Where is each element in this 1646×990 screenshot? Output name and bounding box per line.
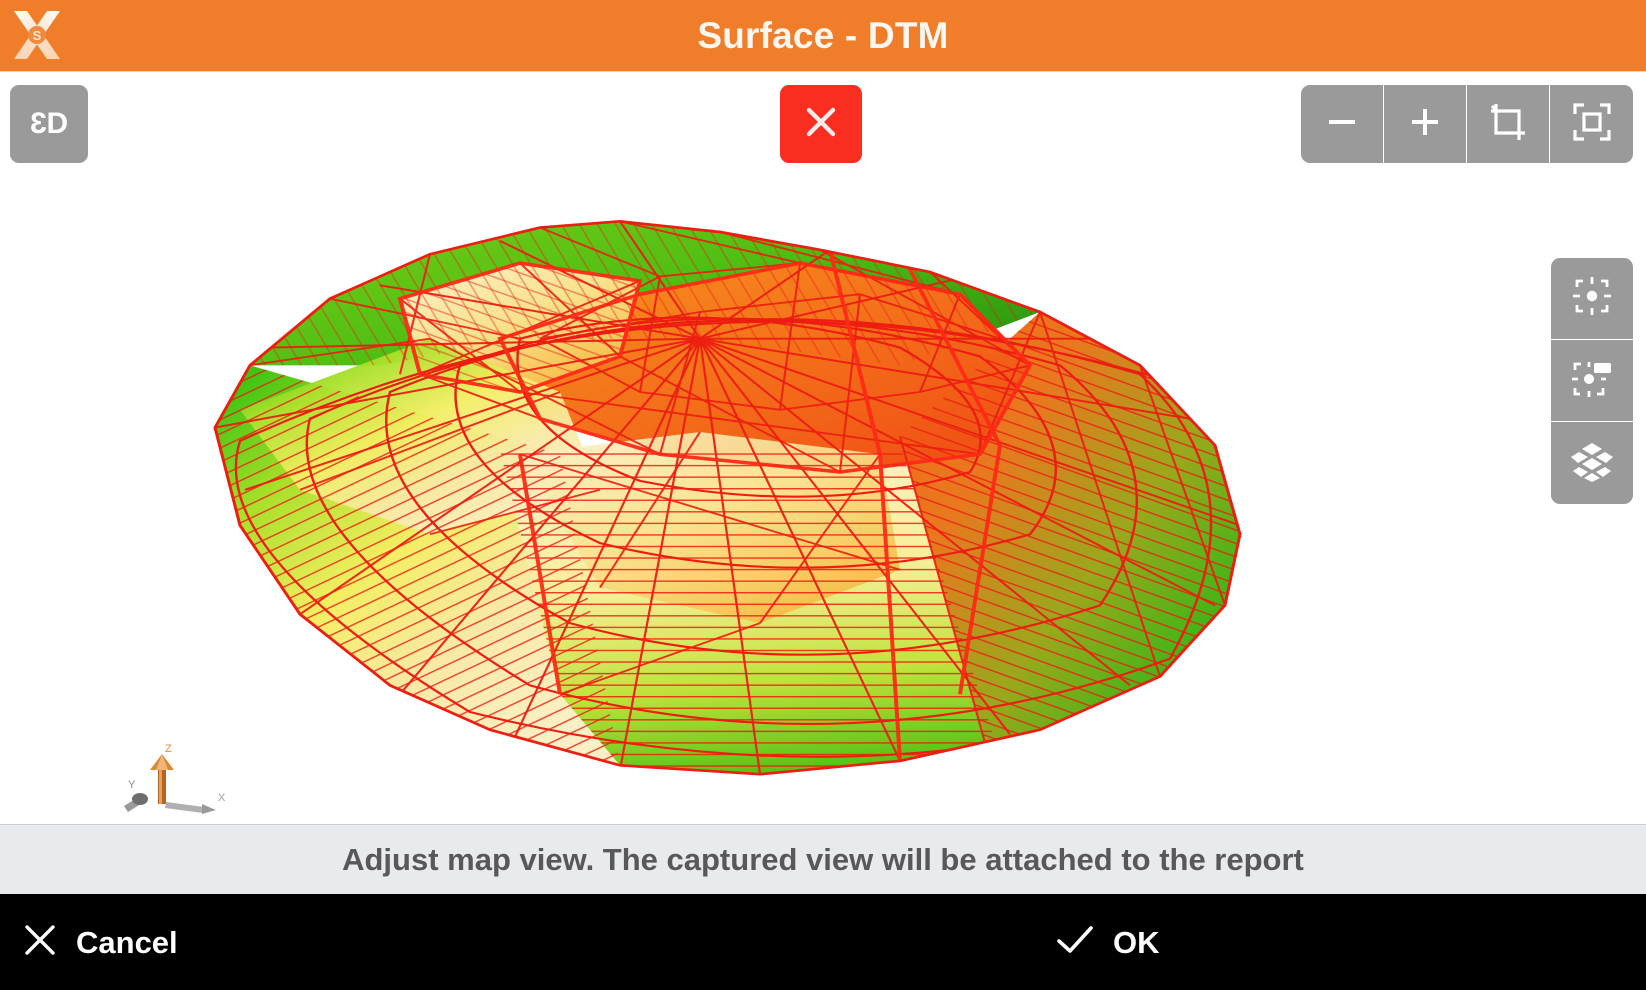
close-icon bbox=[804, 105, 838, 144]
plus-icon bbox=[1406, 103, 1444, 146]
surface-dtm-screen: S Surface - DTM bbox=[0, 0, 1646, 990]
check-icon bbox=[1055, 922, 1095, 963]
dtm-surface-mesh[interactable] bbox=[0, 72, 1646, 824]
crosshair-label-icon bbox=[1569, 355, 1615, 406]
fit-screen-icon bbox=[1572, 102, 1612, 147]
view-mode-3d-label: 3D bbox=[29, 109, 69, 139]
center-target-button[interactable] bbox=[1551, 258, 1633, 340]
status-message: Adjust map view. The captured view will … bbox=[342, 844, 1304, 875]
action-bar: Cancel OK bbox=[0, 894, 1646, 990]
axis-orientation-gizmo: Z Y X bbox=[118, 744, 238, 814]
xsite-logo-icon: S bbox=[8, 6, 66, 64]
minus-icon bbox=[1323, 103, 1361, 146]
view-mode-3d-toggle[interactable]: 3D bbox=[10, 85, 88, 163]
zoom-out-button[interactable] bbox=[1301, 85, 1384, 163]
close-view-button[interactable] bbox=[780, 85, 862, 163]
crosshair-target-icon bbox=[1570, 274, 1614, 323]
target-label-button[interactable] bbox=[1551, 340, 1633, 422]
surface-display-button[interactable] bbox=[1551, 422, 1633, 504]
view-tools-toolbar bbox=[1551, 258, 1633, 504]
title-bar: S Surface - DTM bbox=[0, 0, 1646, 72]
cancel-button[interactable]: Cancel bbox=[22, 894, 178, 990]
mesh-surface-icon bbox=[1568, 437, 1616, 490]
zoom-toolbar bbox=[1301, 85, 1633, 163]
axis-z-label: Z bbox=[165, 744, 172, 755]
axis-y-label: Y bbox=[128, 779, 136, 791]
axis-x-label: X bbox=[218, 792, 226, 804]
zoom-in-button[interactable] bbox=[1384, 85, 1467, 163]
status-bar: Adjust map view. The captured view will … bbox=[0, 824, 1646, 894]
cancel-button-label: Cancel bbox=[76, 927, 178, 958]
map-viewport[interactable]: 3D bbox=[0, 72, 1646, 824]
ok-button[interactable]: OK bbox=[1055, 894, 1160, 990]
crop-icon bbox=[1488, 102, 1528, 147]
crop-view-button[interactable] bbox=[1467, 85, 1550, 163]
close-icon bbox=[22, 922, 58, 963]
ok-button-label: OK bbox=[1113, 927, 1160, 958]
svg-text:S: S bbox=[33, 28, 42, 43]
page-title: Surface - DTM bbox=[697, 17, 948, 54]
fit-to-screen-button[interactable] bbox=[1550, 85, 1633, 163]
